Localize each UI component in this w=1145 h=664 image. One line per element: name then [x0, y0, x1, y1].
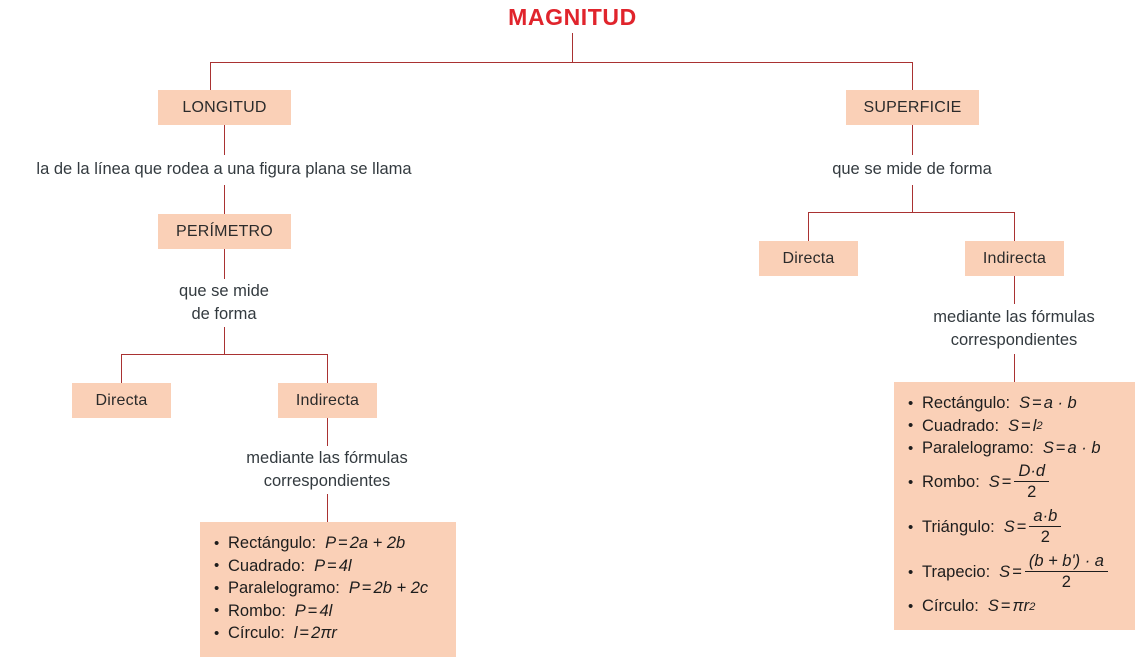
- bullet-icon: •: [908, 520, 922, 535]
- formula-item: •Círculo:S = πr2: [908, 595, 1121, 618]
- node-indirecta-longitud-label: Indirecta: [296, 392, 359, 410]
- formula-item: •Trapecio:S = (b + b') · a2: [908, 550, 1121, 595]
- connector-to-indirecta-right: [1014, 212, 1015, 241]
- connector-indirecta-to-formulas-right: [1014, 276, 1015, 304]
- node-longitud-label: LONGITUD: [182, 99, 266, 117]
- formula-expression: S = a · b: [1043, 440, 1101, 457]
- connector-superficie-to-caption: [912, 125, 913, 155]
- formula-shape-name: Paralelogramo:: [922, 440, 1034, 457]
- node-directa-longitud-label: Directa: [95, 392, 147, 410]
- connector-caption-to-split-right: [912, 185, 913, 213]
- connector-split-horizontal-left: [121, 354, 328, 355]
- fraction-denominator: 2: [1025, 571, 1108, 592]
- formula-item: •Cuadrado:S = l2: [908, 415, 1121, 438]
- formula-shape-name: Cuadrado:: [922, 418, 999, 435]
- node-longitud[interactable]: LONGITUD: [158, 90, 291, 125]
- connector-to-indirecta-left: [327, 354, 328, 383]
- formula-shape-name: Rombo:: [228, 603, 286, 620]
- formula-item: •Paralelogramo:P = 2b + 2c: [214, 577, 442, 600]
- connector-perimetro-to-caption: [224, 249, 225, 279]
- node-indirecta-superficie-label: Indirecta: [983, 250, 1046, 268]
- node-perimetro[interactable]: PERÍMETRO: [158, 214, 291, 249]
- formula-box-perimetro: •Rectángulo:P = 2a + 2b•Cuadrado:P = 4l•…: [200, 522, 456, 657]
- formula-shape-name: Cuadrado:: [228, 558, 305, 575]
- formula-item: •Paralelogramo:S = a · b: [908, 437, 1121, 460]
- bullet-icon: •: [214, 603, 228, 618]
- caption-superficie: que se mide de forma: [792, 158, 1032, 181]
- formula-item: •Rectángulo:S = a · b: [908, 392, 1121, 415]
- formula-shape-name: Paralelogramo:: [228, 580, 340, 597]
- bullet-icon: •: [214, 581, 228, 596]
- formula-rhs: a · b: [1068, 440, 1101, 457]
- formula-shape-name: Rectángulo:: [922, 395, 1010, 412]
- formula-shape-name: Círculo:: [922, 598, 979, 615]
- formula-expression: l = 2πr: [294, 625, 337, 642]
- formula-item: •Rombo:P = 4l: [214, 600, 442, 623]
- node-indirecta-longitud[interactable]: Indirecta: [278, 383, 377, 418]
- formula-shape-name: Rectángulo:: [228, 535, 316, 552]
- formula-rhs: 4l: [319, 603, 332, 620]
- formula-expression: S = a · b: [1019, 395, 1077, 412]
- formula-shape-name: Triángulo:: [922, 519, 995, 536]
- formula-rhs: a · b: [1044, 395, 1077, 412]
- connector-indirecta-to-formulas-left: [327, 418, 328, 446]
- connector-caption-to-box-left: [327, 494, 328, 522]
- formula-item: •Cuadrado:P = 4l: [214, 555, 442, 578]
- fraction-numerator: D·d: [1014, 463, 1049, 481]
- fraction-numerator: a·b: [1029, 508, 1061, 526]
- formula-shape-name: Rombo:: [922, 474, 980, 491]
- concept-map-canvas: MAGNITUD LONGITUD la de la línea que rod…: [0, 0, 1145, 664]
- caption-formulas-longitud: mediante las fórmulas correspondientes: [207, 447, 447, 493]
- fraction: (b + b') · a2: [1025, 553, 1108, 592]
- bullet-icon: •: [908, 441, 922, 456]
- caption-longitud: la de la línea que rodea a una figura pl…: [0, 158, 448, 181]
- formula-expression: P = 2b + 2c: [349, 580, 428, 597]
- formula-shape-name: Trapecio:: [922, 564, 990, 581]
- formula-rhs: 2πr: [311, 625, 337, 642]
- fraction: D·d2: [1014, 463, 1049, 502]
- formula-expression: S = a·b2: [1004, 508, 1063, 547]
- formula-box-superficie: •Rectángulo:S = a · b•Cuadrado:S = l2•Pa…: [894, 382, 1135, 630]
- bullet-icon: •: [908, 396, 922, 411]
- formula-list-superficie: •Rectángulo:S = a · b•Cuadrado:S = l2•Pa…: [908, 392, 1121, 618]
- formula-rhs: πr: [1013, 598, 1030, 615]
- formula-item: •Triángulo:S = a·b2: [908, 505, 1121, 550]
- node-superficie-label: SUPERFICIE: [863, 99, 961, 117]
- connector-caption-to-box-right: [1014, 354, 1015, 382]
- formula-expression: P = 2a + 2b: [325, 535, 405, 552]
- fraction: a·b2: [1029, 508, 1061, 547]
- node-perimetro-label: PERÍMETRO: [176, 223, 273, 241]
- connector-root-down: [572, 33, 573, 62]
- bullet-icon: •: [214, 536, 228, 551]
- formula-rhs: 4l: [339, 558, 352, 575]
- connector-root-horizontal: [210, 62, 913, 63]
- formula-expression: P = 4l: [314, 558, 352, 575]
- bullet-icon: •: [908, 599, 922, 614]
- formula-expression: S = πr2: [988, 598, 1035, 615]
- connector-to-directa-left: [121, 354, 122, 383]
- connector-to-superficie: [912, 62, 913, 90]
- caption-formulas-superficie: mediante las fórmulas correspondientes: [894, 306, 1134, 352]
- node-directa-superficie[interactable]: Directa: [759, 241, 858, 276]
- formula-expression: S = (b + b') · a2: [999, 553, 1109, 592]
- connector-measure-to-split-left: [224, 327, 225, 355]
- connector-to-longitud: [210, 62, 211, 90]
- fraction-denominator: 2: [1029, 526, 1061, 547]
- connector-split-horizontal-right: [808, 212, 1015, 213]
- node-directa-longitud[interactable]: Directa: [72, 383, 171, 418]
- bullet-icon: •: [908, 565, 922, 580]
- bullet-icon: •: [214, 558, 228, 573]
- fraction-numerator: (b + b') · a: [1025, 553, 1108, 571]
- caption-perimetro-measure: que se mide de forma: [104, 280, 344, 326]
- connector-longitud-to-caption: [224, 125, 225, 155]
- formula-expression: P = 4l: [295, 603, 333, 620]
- connector-caption-to-perimetro: [224, 185, 225, 214]
- formula-item: •Rombo:S = D·d2: [908, 460, 1121, 505]
- bullet-icon: •: [908, 418, 922, 433]
- formula-shape-name: Círculo:: [228, 625, 285, 642]
- formula-expression: S = l2: [1008, 418, 1043, 435]
- connector-to-directa-right: [808, 212, 809, 241]
- formula-item: •Círculo:l = 2πr: [214, 622, 442, 645]
- formula-rhs: 2a + 2b: [350, 535, 406, 552]
- fraction-denominator: 2: [1014, 481, 1049, 502]
- page-title: MAGNITUD: [0, 4, 1145, 31]
- node-superficie[interactable]: SUPERFICIE: [846, 90, 979, 125]
- bullet-icon: •: [908, 475, 922, 490]
- node-indirecta-superficie[interactable]: Indirecta: [965, 241, 1064, 276]
- formula-list-perimetro: •Rectángulo:P = 2a + 2b•Cuadrado:P = 4l•…: [214, 532, 442, 645]
- node-directa-superficie-label: Directa: [782, 250, 834, 268]
- formula-item: •Rectángulo:P = 2a + 2b: [214, 532, 442, 555]
- formula-rhs: 2b + 2c: [374, 580, 429, 597]
- bullet-icon: •: [214, 626, 228, 641]
- formula-expression: S = D·d2: [989, 463, 1050, 502]
